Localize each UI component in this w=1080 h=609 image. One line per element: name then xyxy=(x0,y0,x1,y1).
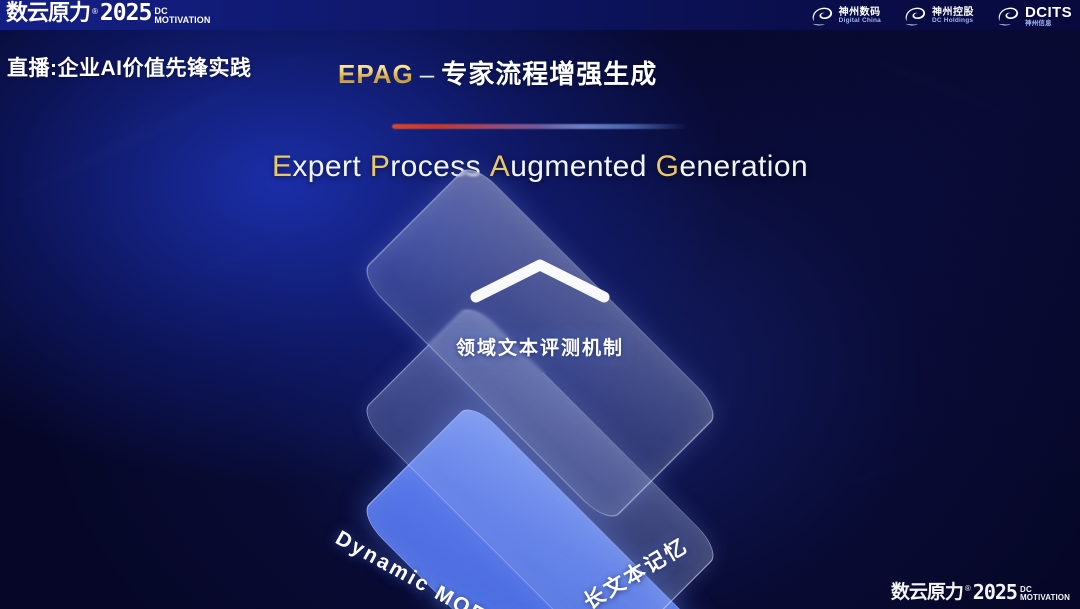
title-acronym: EPAG xyxy=(338,59,414,89)
logo-dc-holdings: 神州控股 DC Holdings xyxy=(903,5,974,27)
bg-light-streak xyxy=(792,26,1080,155)
subtitle-space xyxy=(361,150,370,183)
diagram-side-label-left: Dynamic MOE xyxy=(331,527,490,609)
diagram-layer-top-label: 领域文本评测机制 xyxy=(285,333,795,360)
brand-motivation-text: MOTIVATION xyxy=(154,16,210,24)
watermark-year: 2025 xyxy=(973,582,1017,602)
partner-logo-group: 神州数码 Digital China 神州控股 DC Holdings xyxy=(810,5,1072,28)
logo-dc-holdings-text: 神州控股 DC Holdings xyxy=(932,8,974,25)
watermark-dc-motivation: DC MOTIVATION xyxy=(1020,586,1070,601)
logo-label-cn: 神州信息 xyxy=(1025,21,1072,28)
spiral-swoosh-icon xyxy=(996,5,1020,27)
bg-light-streak xyxy=(0,19,377,223)
subtitle-rest: ugmented xyxy=(510,150,647,183)
watermark-registered-mark: ® xyxy=(965,584,971,593)
subtitle-cap: A xyxy=(490,150,510,183)
subtitle-space xyxy=(647,150,656,183)
logo-label-en: DC Holdings xyxy=(932,18,974,25)
page-title: EPAG–专家流程增强生成 xyxy=(338,54,657,91)
watermark-motivation-text: MOTIVATION xyxy=(1020,594,1070,601)
title-chinese: 专家流程增强生成 xyxy=(441,59,657,89)
brand-year: 2025 xyxy=(100,2,151,25)
brand-logo-watermark: 数云原力 ® 2025 DC MOTIVATION xyxy=(891,582,1070,602)
layer-stack-diagram: 三类语义建模模块 Dynamic MOE 长文本记忆 领域文本评测机制 xyxy=(0,205,1080,575)
logo-digital-china: 神州数码 Digital China xyxy=(810,5,881,27)
spiral-swoosh-icon xyxy=(903,5,927,27)
logo-dcits: DCITS 神州信息 xyxy=(996,5,1072,28)
subtitle-cap: G xyxy=(656,150,680,183)
subtitle: Expert Process Augmented Generation xyxy=(0,150,1080,184)
brand-name-cn: 数云原力 xyxy=(6,3,90,25)
header-bar: 数云原力 ® 2025 DC MOTIVATION 神州数码 Digital C… xyxy=(0,0,1080,30)
subtitle-rest: xpert xyxy=(292,150,361,183)
chevron-up-icon xyxy=(468,257,612,303)
logo-digital-china-text: 神州数码 Digital China xyxy=(839,8,881,25)
spiral-swoosh-icon xyxy=(810,5,834,27)
logo-label-en: DCITS xyxy=(1025,5,1072,21)
subtitle-rest: eneration xyxy=(679,150,808,183)
diagram-layer-top[interactable]: 领域文本评测机制 xyxy=(285,213,795,473)
brand-dc-motivation: DC MOTIVATION xyxy=(154,7,210,24)
watermark-name-cn: 数云原力 xyxy=(891,583,963,602)
live-stream-label: 直播:企业AI价值先锋实践 xyxy=(7,52,252,82)
gradient-divider xyxy=(392,124,688,129)
slide-canvas: 数云原力 ® 2025 DC MOTIVATION 神州数码 Digital C… xyxy=(0,0,1080,609)
brand-logo-top: 数云原力 ® 2025 DC MOTIVATION xyxy=(6,2,210,25)
logo-dcits-text: DCITS 神州信息 xyxy=(1025,5,1072,28)
title-dash: – xyxy=(420,59,435,89)
subtitle-cap: P xyxy=(370,150,390,183)
subtitle-cap: E xyxy=(272,150,292,183)
logo-label-en: Digital China xyxy=(839,18,881,25)
brand-registered-mark: ® xyxy=(92,7,98,16)
